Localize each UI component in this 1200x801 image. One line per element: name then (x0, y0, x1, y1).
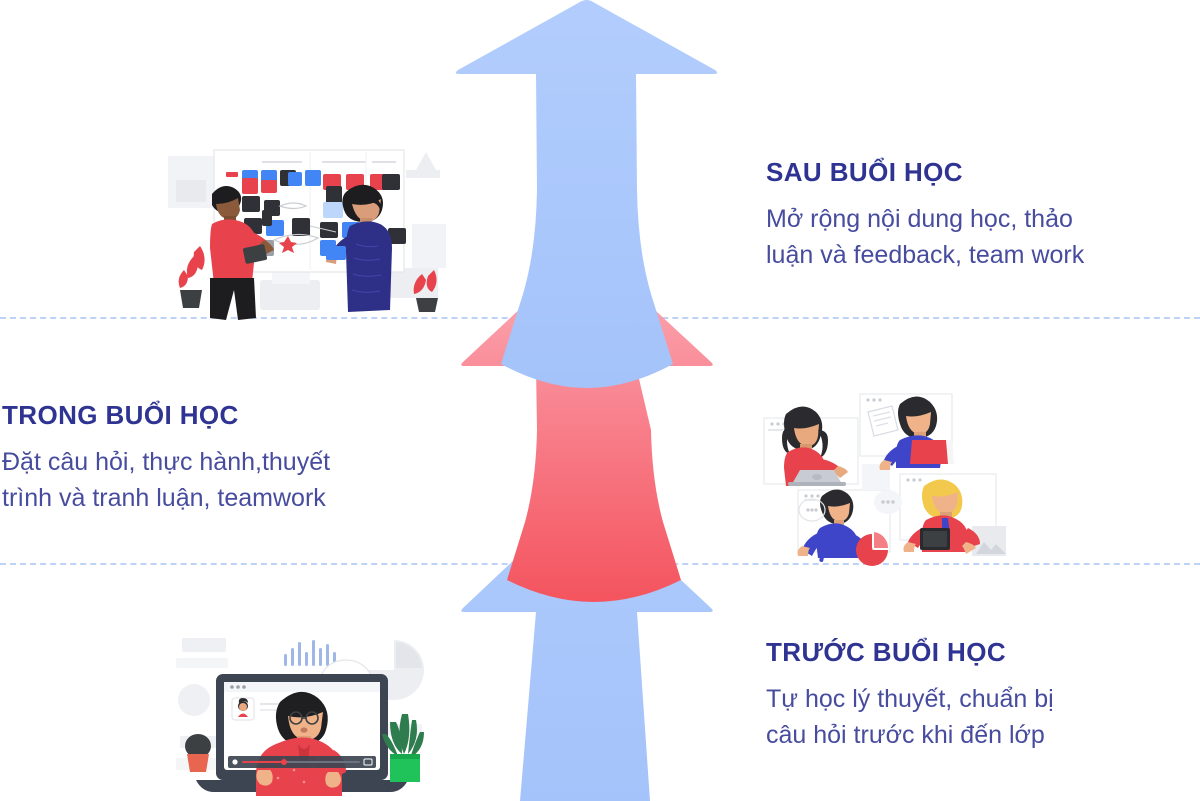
heading-before-class: TRƯỚC BUỔI HỌC (766, 637, 1196, 668)
whiteboard-collaboration-illustration (160, 128, 450, 320)
laptop-video-lecture-illustration (158, 618, 452, 801)
body-line: Mở rộng nội dung học, thảo (766, 202, 1196, 238)
body-before-class: Tự học lý thuyết, chuẩn bị câu hỏi trước… (766, 682, 1196, 753)
body-after-class: Mở rộng nội dung học, thảo luận và feedb… (766, 202, 1196, 273)
section-before-class: TRƯỚC BUỔI HỌC Tự học lý thuyết, chuẩn b… (766, 637, 1196, 753)
body-line: câu hỏi trước khi đến lớp (766, 718, 1196, 754)
body-line: trình và tranh luận, teamwork (2, 481, 442, 517)
body-line: Tự học lý thuyết, chuẩn bị (766, 682, 1196, 718)
body-line: Đặt câu hỏi, thực hành,thuyết (2, 445, 442, 481)
infographic-canvas: SAU BUỔI HỌC Mở rộng nội dung học, thảo … (0, 0, 1200, 801)
video-conference-grid-illustration (760, 378, 1030, 568)
body-during-class: Đặt câu hỏi, thực hành,thuyết trình và t… (2, 445, 442, 516)
central-arrow-stack (440, 0, 740, 801)
body-line: luận và feedback, team work (766, 238, 1196, 274)
section-after-class: SAU BUỔI HỌC Mở rộng nội dung học, thảo … (766, 157, 1196, 273)
heading-during-class: TRONG BUỔI HỌC (2, 400, 442, 431)
section-during-class: TRONG BUỔI HỌC Đặt câu hỏi, thực hành,th… (2, 400, 442, 516)
top-blue-arrow (456, 0, 718, 388)
heading-after-class: SAU BUỔI HỌC (766, 157, 1196, 188)
